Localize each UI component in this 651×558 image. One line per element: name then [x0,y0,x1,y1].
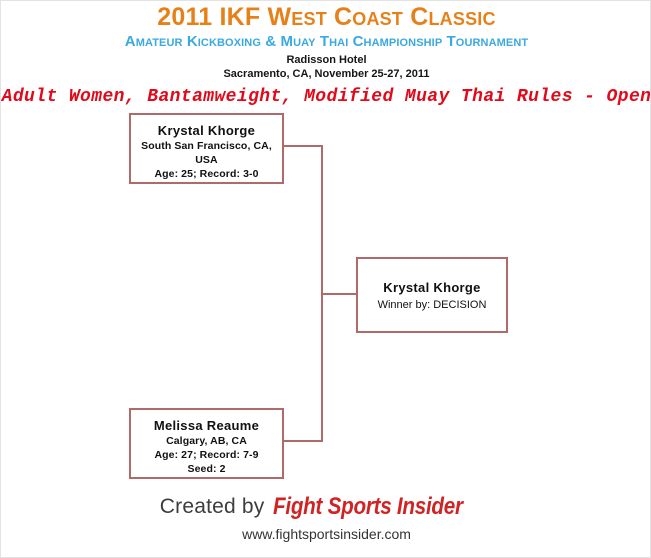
connector-line-top-horizontal [282,145,323,147]
connector-line-winner-horizontal [321,293,358,295]
fight-sports-insider-logo: Fight Sports Insider [273,493,463,521]
tournament-bracket: Krystal Khorge South San Francisco, CA, … [1,1,651,558]
competitor-age-record: Age: 25; Record: 3-0 [131,167,282,181]
winner-box[interactable]: Krystal Khorge Winner by: DECISION [356,257,508,333]
competitor-age-record: Age: 27; Record: 7-9 [131,448,282,462]
competitor-hometown: South San Francisco, CA, USA [131,139,282,167]
competitor-box-bottom[interactable]: Melissa Reaume Calgary, AB, CA Age: 27; … [129,408,284,479]
page-footer: Created byFight Sports Insider www.fight… [1,493,651,543]
competitor-name: Melissa Reaume [131,410,282,434]
bracket-page: 2011 IKF West Coast Classic Amateur Kick… [0,0,651,558]
website-url[interactable]: www.fightsportsinsider.com [1,521,651,543]
competitor-seed: Seed: 1 [131,181,282,184]
competitor-name: Krystal Khorge [131,115,282,139]
competitor-box-top[interactable]: Krystal Khorge South San Francisco, CA, … [129,113,284,184]
connector-line-bottom-horizontal [282,440,323,442]
competitor-seed: Seed: 2 [131,462,282,476]
winner-name: Krystal Khorge [358,259,506,296]
created-by-label: Created by [160,495,265,518]
credit-row: Created byFight Sports Insider [160,493,493,521]
competitor-hometown: Calgary, AB, CA [131,434,282,448]
winner-result: Winner by: DECISION [358,296,506,312]
